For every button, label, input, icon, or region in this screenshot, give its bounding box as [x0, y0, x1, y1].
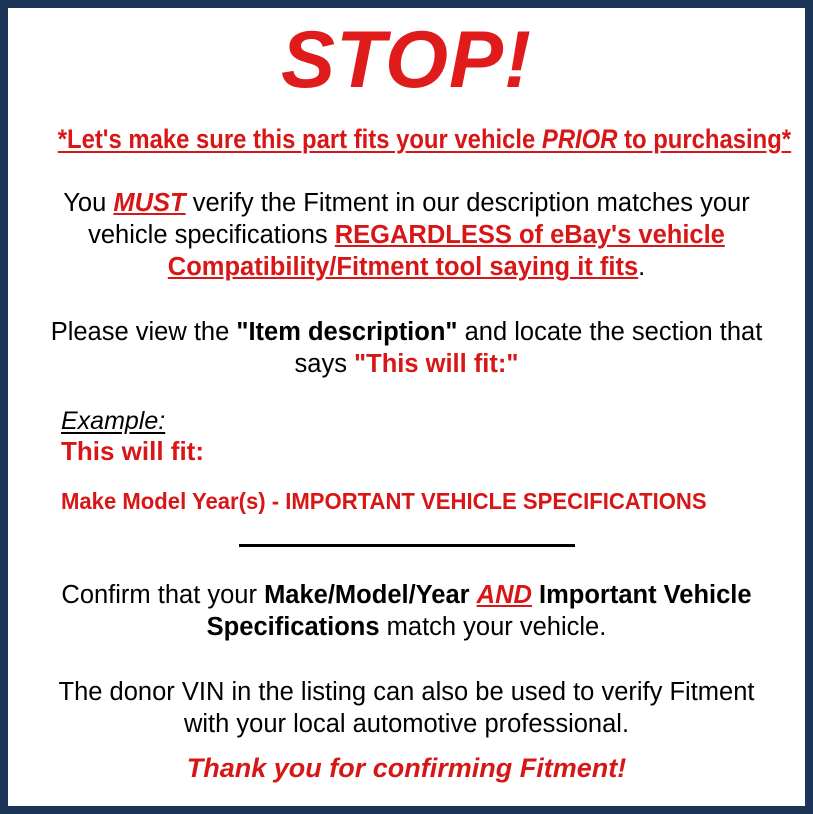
- must-seg-lead: You: [63, 189, 113, 217]
- and-emphasis: AND: [477, 581, 532, 609]
- must-seg-end: .: [638, 253, 645, 281]
- subtitle-text-after: to purchasing*: [617, 124, 791, 154]
- this-will-fit-quote: "This will fit:": [354, 350, 518, 378]
- subtitle-emphasis-prior: PRIOR: [542, 124, 618, 154]
- horizontal-divider: [239, 544, 575, 547]
- subtitle: *Let's make sure this part fits your veh…: [58, 125, 791, 154]
- item-description-paragraph: Please view the "Item description" and l…: [17, 316, 796, 380]
- subtitle-text-before: *Let's make sure this part fits your veh…: [58, 124, 542, 154]
- example-spec-line: Make Model Year(s) - IMPORTANT VEHICLE S…: [61, 489, 752, 515]
- subtitle-row: *Let's make sure this part fits your veh…: [17, 125, 796, 154]
- fitment-notice-frame: STOP! *Let's make sure this part fits yo…: [0, 0, 813, 814]
- divider-row: [17, 537, 796, 551]
- confirm-seg-lead: Confirm that your: [61, 581, 264, 609]
- example-block: Example: This will fit: Make Model Year(…: [17, 408, 796, 515]
- confirm-paragraph: Confirm that your Make/Model/Year AND Im…: [17, 579, 796, 643]
- thank-you-line: Thank you for confirming Fitment!: [17, 752, 796, 784]
- must-emphasis: MUST: [113, 189, 185, 217]
- must-verify-paragraph: You MUST verify the Fitment in our descr…: [17, 187, 796, 283]
- example-fit-heading: This will fit:: [61, 437, 796, 466]
- example-label: Example:: [61, 408, 165, 435]
- view-seg-lead: Please view the: [51, 318, 237, 346]
- donor-vin-paragraph: The donor VIN in the listing can also be…: [17, 676, 796, 740]
- page-title: STOP!: [17, 8, 796, 112]
- confirm-seg-end: match your vehicle.: [380, 613, 607, 641]
- notice-content: STOP! *Let's make sure this part fits yo…: [8, 8, 805, 806]
- example-label-row: Example:: [61, 408, 796, 435]
- make-model-year-emphasis: Make/Model/Year: [264, 581, 470, 609]
- item-description-label: "Item description": [236, 318, 457, 346]
